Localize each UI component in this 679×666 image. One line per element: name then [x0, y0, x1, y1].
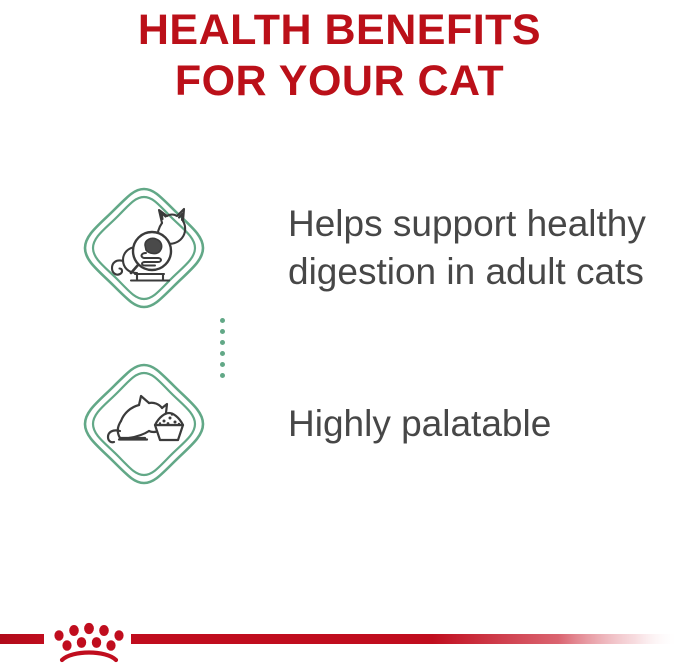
promo-panel: HEALTH BENEFITS FOR YOUR CAT — [0, 0, 679, 666]
crown-top-dots — [54, 623, 123, 641]
crown-bottom-dots — [62, 637, 115, 651]
page-title: HEALTH BENEFITS FOR YOUR CAT — [0, 0, 679, 106]
crown-arc — [62, 653, 116, 661]
benefit-icon-cell — [0, 183, 288, 313]
footer-bar-left — [0, 634, 44, 644]
title-line-1: HEALTH BENEFITS — [0, 0, 679, 55]
title-line-2: FOR YOUR CAT — [0, 55, 679, 106]
connector-dot — [220, 329, 225, 334]
royal-canin-crown-logo — [0, 600, 679, 666]
connector-dot — [220, 340, 225, 345]
benefit-item: Highly palatable — [0, 354, 679, 494]
connector-dot — [220, 318, 225, 323]
cat-food-bowl-icon — [79, 359, 209, 489]
benefit-item: Helps support healthy digestion in adult… — [0, 178, 679, 318]
connector-dot — [220, 351, 225, 356]
footer-bar-right — [131, 634, 679, 644]
benefit-text: Helps support healthy digestion in adult… — [288, 200, 679, 296]
benefit-text: Highly palatable — [288, 400, 563, 448]
cat-digestion-icon — [79, 183, 209, 313]
connector-dot — [220, 362, 225, 367]
benefits-list: Helps support healthy digestion in adult… — [0, 178, 679, 494]
footer-brand-bar — [0, 600, 679, 666]
connector-dot — [220, 373, 225, 378]
benefit-icon-cell — [0, 359, 288, 489]
dotted-connector — [218, 318, 226, 366]
